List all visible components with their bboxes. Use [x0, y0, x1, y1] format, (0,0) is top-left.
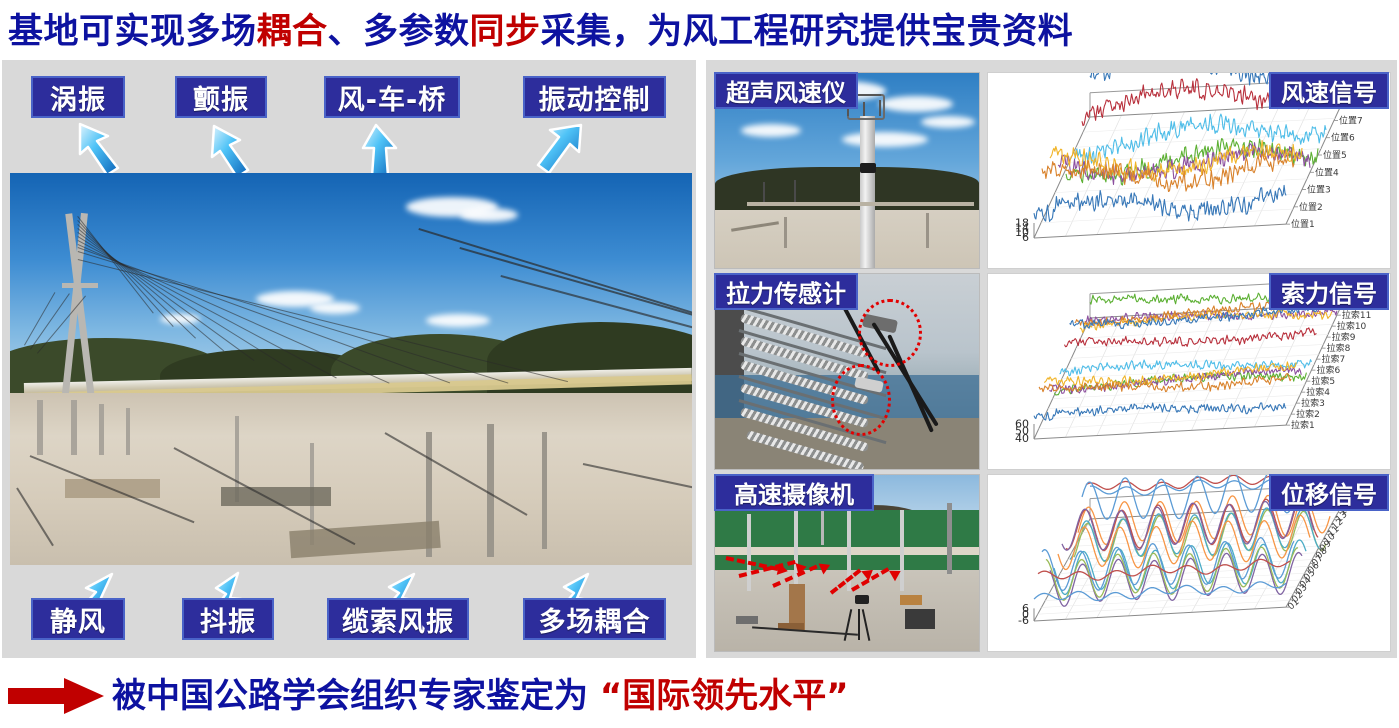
svg-text:位置1: 位置1: [1291, 218, 1315, 230]
right-panel: 超声风速仪 6101418位置1位置2位置3位置4位置5位置6位置7位置8 风速…: [706, 60, 1397, 658]
tag-bottom-3[interactable]: 多场耦合: [523, 598, 666, 640]
text-segment: “国际领先水平”: [600, 676, 849, 716]
svg-text:位置3: 位置3: [1307, 184, 1331, 196]
arrow-up-1: [204, 122, 256, 180]
arrow-up-0: [74, 120, 126, 178]
bridge-site-photo: [10, 173, 692, 565]
arrow-up-2: [354, 122, 406, 180]
svg-text:拉索8: 拉索8: [1327, 342, 1351, 354]
chart-label-wind-speed: 风速信号: [1269, 72, 1389, 109]
chart-label-displacement: 位移信号: [1269, 474, 1389, 511]
svg-text:6: 6: [1022, 602, 1029, 615]
tag-top-0[interactable]: 涡振: [31, 76, 125, 118]
svg-text:60: 60: [1015, 417, 1029, 430]
red-arrow-icon: [8, 678, 104, 714]
tag-bottom-2[interactable]: 缆索风振: [327, 598, 469, 640]
text-segment: 被中国公路学会组织专家鉴定为: [112, 676, 600, 716]
chart-label-cable-force: 索力信号: [1269, 273, 1389, 310]
svg-text:位置6: 位置6: [1331, 132, 1355, 144]
photo-label-anemometer: 超声风速仪: [714, 72, 858, 109]
text-segment: 同步: [470, 12, 541, 52]
svg-text:位置5: 位置5: [1323, 149, 1347, 161]
svg-text:拉索1: 拉索1: [1291, 419, 1315, 431]
photo-label-tension-sensor: 拉力传感计: [714, 273, 858, 310]
svg-text:位置2: 位置2: [1299, 201, 1323, 213]
tag-top-2[interactable]: 风-车-桥: [324, 76, 460, 118]
bottom-caption-text: 被中国公路学会组织专家鉴定为 “国际领先水平”: [112, 668, 849, 717]
text-segment: 基地可实现多场: [8, 12, 257, 52]
svg-text:拉索2: 拉索2: [1296, 408, 1320, 420]
annotation-circle-bottom: [831, 364, 891, 436]
svg-text:拉索4: 拉索4: [1306, 386, 1330, 398]
annotation-circle-top: [858, 299, 922, 367]
tag-top-1[interactable]: 颤振: [175, 76, 267, 118]
tag-top-3[interactable]: 振动控制: [523, 76, 666, 118]
text-segment: 耦合: [257, 12, 328, 52]
slide-root: 基地可实现多场耦合、多参数同步采集，为风工程研究提供宝贵资料 涡振 颤振 风-车…: [0, 0, 1399, 728]
left-panel: 涡振 颤振 风-车-桥 振动控制: [2, 60, 696, 658]
page-title-text: 基地可实现多场耦合、多参数同步采集，为风工程研究提供宝贵资料: [8, 3, 1073, 54]
tag-bottom-0[interactable]: 静风: [31, 598, 125, 640]
arrow-up-3: [535, 120, 587, 178]
svg-text:拉索10: 拉索10: [1337, 320, 1367, 332]
svg-text:拉索3: 拉索3: [1301, 397, 1325, 409]
svg-text:位置7: 位置7: [1339, 114, 1363, 126]
svg-text:拉索9: 拉索9: [1332, 331, 1356, 343]
svg-text:18: 18: [1015, 216, 1029, 229]
svg-text:拉索11: 拉索11: [1342, 309, 1371, 321]
svg-text:拉索5: 拉索5: [1311, 375, 1335, 387]
photo-label-high-speed-camera: 高速摄像机: [714, 474, 874, 511]
text-segment: 、多参数: [328, 12, 470, 52]
svg-text:拉索6: 拉索6: [1316, 364, 1340, 376]
svg-text:位置4: 位置4: [1315, 166, 1339, 178]
tag-bottom-1[interactable]: 抖振: [182, 598, 274, 640]
page-title: 基地可实现多场耦合、多参数同步采集，为风工程研究提供宝贵资料: [0, 0, 1399, 56]
text-segment: 采集，为风工程研究提供宝贵资料: [541, 12, 1074, 52]
svg-text:拉索7: 拉索7: [1322, 353, 1346, 365]
